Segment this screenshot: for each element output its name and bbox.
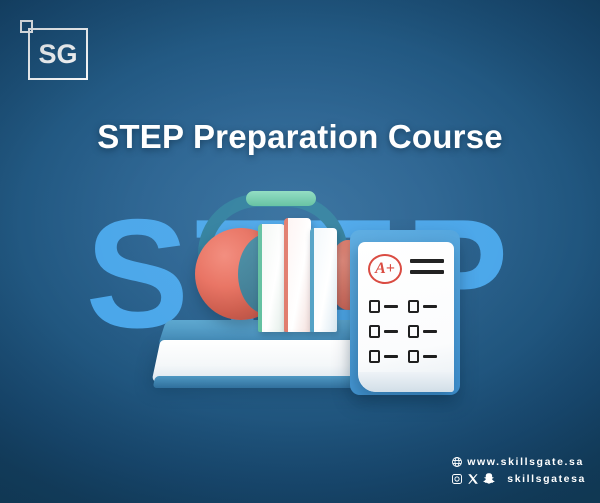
grade-badge: A+ <box>368 254 402 284</box>
paper-header-line <box>410 259 444 263</box>
social-handle-label: skillsgatesa <box>507 473 586 485</box>
x-twitter-icon[interactable] <box>467 473 479 485</box>
checkbox-icon <box>369 325 380 338</box>
globe-icon <box>451 456 463 468</box>
study-materials-3d-illustration: A+ <box>150 190 480 410</box>
snapchat-icon[interactable] <box>483 472 496 485</box>
checkbox-icon <box>369 350 380 363</box>
answer-line <box>423 330 437 333</box>
standing-book <box>258 224 285 332</box>
website-label: www.skillsgate.sa <box>467 456 584 468</box>
paper-curl <box>358 372 454 392</box>
instagram-icon[interactable] <box>451 473 463 485</box>
paper-question-row <box>369 325 437 338</box>
paper-question-row <box>369 300 437 313</box>
paper-header-line <box>410 270 444 274</box>
answer-line <box>384 330 398 333</box>
checkbox-icon <box>408 300 419 313</box>
promo-banner: SG STEP Preparation Course STEP A+ <box>0 0 600 503</box>
answer-line <box>423 305 437 308</box>
footer-contact: www.skillsgate.sa skillsgatesa <box>451 453 586 487</box>
website-row[interactable]: www.skillsgate.sa <box>451 453 586 470</box>
page-title: STEP Preparation Course <box>0 118 600 156</box>
social-row[interactable]: skillsgatesa <box>451 470 586 487</box>
answer-line <box>384 305 398 308</box>
checkbox-icon <box>369 300 380 313</box>
exam-paper: A+ <box>358 242 454 392</box>
answer-line <box>423 355 437 358</box>
brand-logo[interactable]: SG <box>20 18 96 84</box>
answer-line <box>384 355 398 358</box>
standing-book <box>310 228 337 332</box>
base-book-bottom <box>153 376 378 388</box>
checkbox-icon <box>408 350 419 363</box>
headphone-top-pad <box>246 191 316 206</box>
standing-book <box>284 218 311 332</box>
checkbox-icon <box>408 325 419 338</box>
logo-monogram-text: SG <box>28 28 88 80</box>
paper-question-row <box>369 350 437 363</box>
